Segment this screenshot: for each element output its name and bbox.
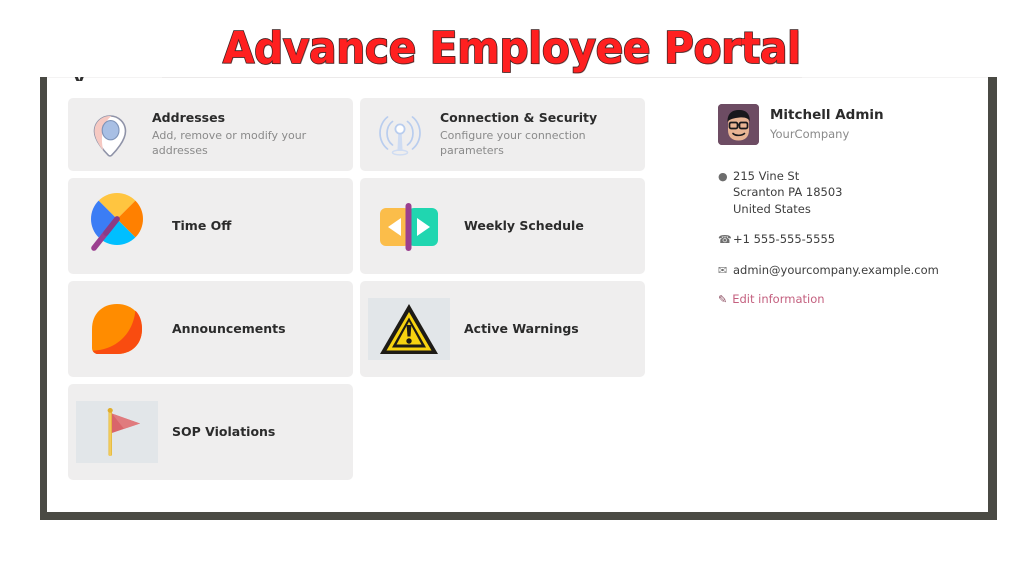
page-title: Advance Employee Portal xyxy=(223,27,801,71)
red-flag-icon xyxy=(86,404,148,460)
cards-column: Addresses Add, remove or modify your add… xyxy=(47,78,687,512)
schedule-arrows-icon xyxy=(368,190,450,262)
pencil-icon: ✎ xyxy=(718,293,727,306)
card-title: Weekly Schedule xyxy=(464,218,584,235)
edit-information-link[interactable]: ✎ Edit information xyxy=(718,292,988,306)
announcement-bubble-icon xyxy=(76,288,158,370)
card-text: Weekly Schedule xyxy=(464,218,584,235)
flag-icon-plate xyxy=(76,401,158,463)
card-subtitle: Configure your connection parameters xyxy=(440,128,645,159)
signal-antenna-icon xyxy=(374,107,426,163)
email-value: admin@yourcompany.example.com xyxy=(733,262,939,278)
card-title: Active Warnings xyxy=(464,321,579,338)
umbrella-icon xyxy=(76,185,158,267)
user-name: Mitchell Admin xyxy=(770,107,884,125)
card-sop-violations[interactable]: SOP Violations xyxy=(68,384,353,480)
card-text: Announcements xyxy=(172,321,286,338)
location-pin-icon: ● xyxy=(718,168,733,185)
phone-row: ☎ +1 555-555-5555 xyxy=(718,231,988,248)
page-banner: Advance Employee Portal xyxy=(0,0,1024,77)
card-subtitle: Add, remove or modify your addresses xyxy=(152,128,353,159)
icon-backdrop xyxy=(76,401,158,463)
address-row: ● 215 Vine St Scranton PA 18503 United S… xyxy=(718,168,988,217)
card-title: Connection & Security xyxy=(440,110,645,127)
card-weekly-schedule[interactable]: Weekly Schedule xyxy=(360,178,645,274)
card-title: SOP Violations xyxy=(172,424,275,441)
card-active-warnings[interactable]: Active Warnings xyxy=(360,281,645,377)
card-connection-security[interactable]: Connection & Security Configure your con… xyxy=(360,98,645,171)
user-contact-info: ● 215 Vine St Scranton PA 18503 United S… xyxy=(718,168,988,306)
user-company: YourCompany xyxy=(770,126,884,142)
user-panel: Mitchell Admin YourCompany ● 215 Vine St… xyxy=(687,78,988,512)
email-row: ✉ admin@yourcompany.example.com xyxy=(718,262,988,279)
warning-triangle-icon xyxy=(378,301,440,357)
icon-backdrop xyxy=(368,298,450,360)
card-text: Addresses Add, remove or modify your add… xyxy=(152,110,353,159)
avatar xyxy=(718,104,759,145)
phone-value: +1 555-555-5555 xyxy=(733,231,835,247)
window-content: y Addresses Add, remove or modi xyxy=(47,77,988,512)
address-value: 215 Vine St Scranton PA 18503 United Sta… xyxy=(733,168,842,217)
card-text: Connection & Security Configure your con… xyxy=(440,110,645,159)
card-addresses[interactable]: Addresses Add, remove or modify your add… xyxy=(68,98,353,171)
map-pin-icon xyxy=(82,107,138,163)
card-title: Time Off xyxy=(172,218,231,235)
warning-icon-plate xyxy=(368,298,450,360)
card-text: SOP Violations xyxy=(172,424,275,441)
card-text: Active Warnings xyxy=(464,321,579,338)
edit-information-label: Edit information xyxy=(732,292,824,306)
card-title: Addresses xyxy=(152,110,353,127)
envelope-icon: ✉ xyxy=(718,262,733,279)
phone-icon: ☎ xyxy=(718,231,733,248)
card-title: Announcements xyxy=(172,321,286,338)
card-text: Time Off xyxy=(172,218,231,235)
card-announcements[interactable]: Announcements xyxy=(68,281,353,377)
portal-card-grid: Addresses Add, remove or modify your add… xyxy=(68,98,660,480)
user-header: Mitchell Admin YourCompany xyxy=(718,104,988,145)
portal-content: Addresses Add, remove or modify your add… xyxy=(47,78,988,512)
user-identity: Mitchell Admin YourCompany xyxy=(770,107,884,142)
card-time-off[interactable]: Time Off xyxy=(68,178,353,274)
